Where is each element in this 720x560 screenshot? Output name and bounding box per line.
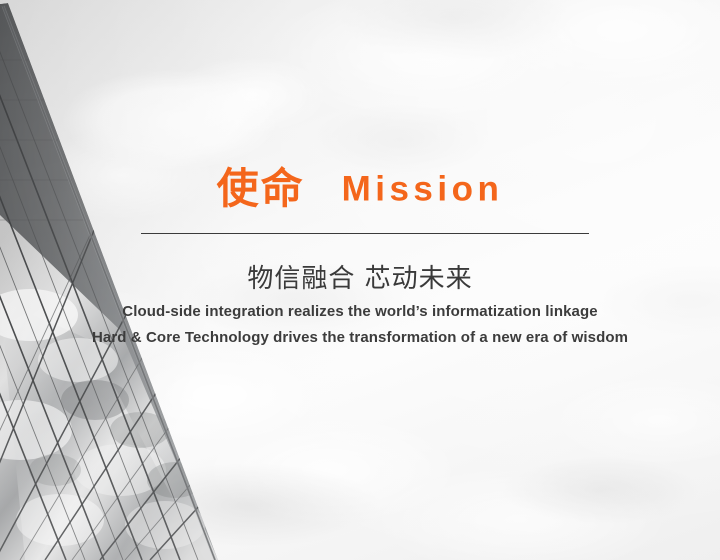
title-chinese: 使命 xyxy=(217,164,305,213)
subtitle-chinese: 物信融合 芯动未来 xyxy=(0,258,720,295)
mission-banner: 使命 Mission 物信融合 芯动未来 Cloud-side integrat… xyxy=(0,0,720,560)
tagline-line-2: Hard & Core Technology drives the transf… xyxy=(0,329,720,346)
banner-content: 使命 Mission 物信融合 芯动未来 Cloud-side integrat… xyxy=(0,0,720,560)
banner-title: 使命 Mission xyxy=(0,168,720,210)
tagline-line-1: Cloud-side integration realizes the worl… xyxy=(0,303,720,320)
title-divider-line xyxy=(141,233,589,234)
title-english: Mission xyxy=(342,170,504,209)
